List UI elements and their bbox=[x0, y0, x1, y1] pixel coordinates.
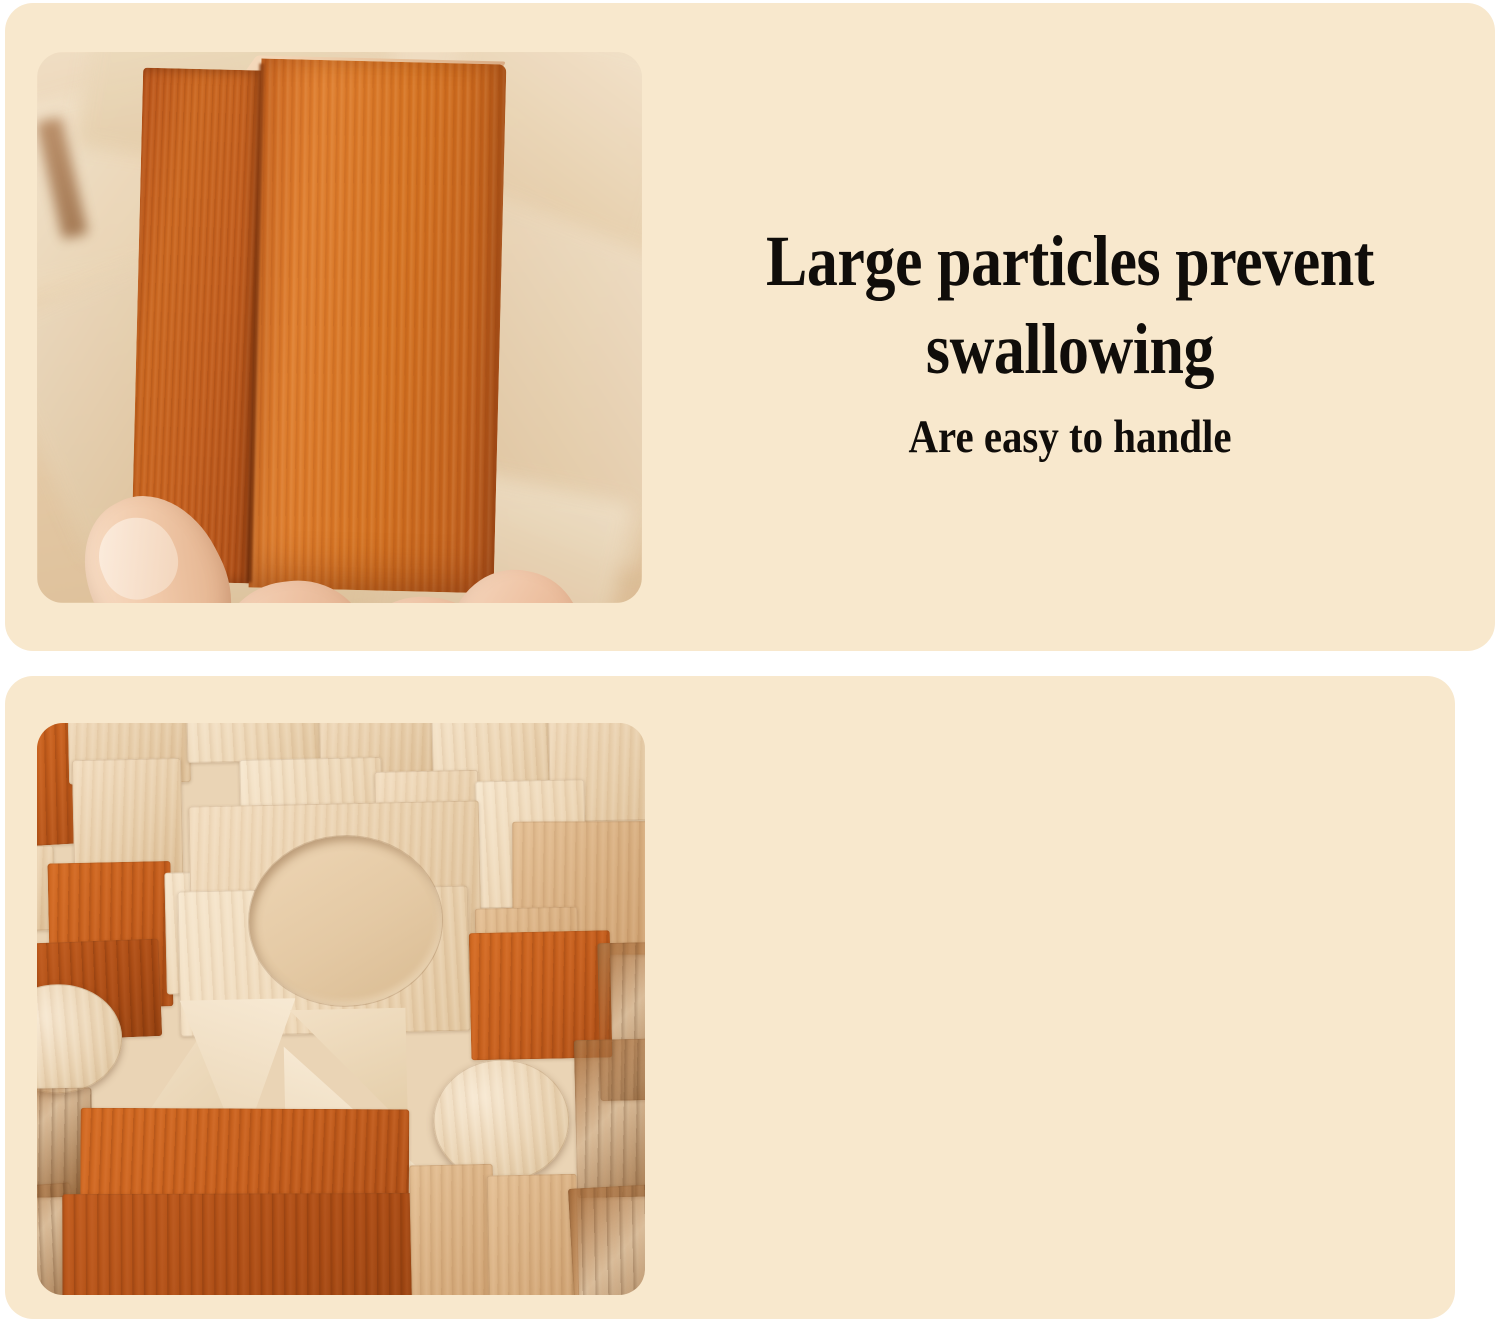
block-light bbox=[186, 723, 323, 764]
block-dark bbox=[63, 1192, 418, 1295]
thumbnail bbox=[87, 505, 190, 603]
block-tan bbox=[486, 1174, 580, 1295]
feature-card-variety-of-shapes: A variety of shapes dark color combinati… bbox=[5, 676, 1455, 1319]
block-front-face bbox=[248, 59, 506, 594]
block-tan bbox=[409, 1164, 496, 1295]
block-brown bbox=[568, 1181, 645, 1295]
feature-card-large-particles: Large particles prevent swallowing Are e… bbox=[5, 3, 1495, 651]
feature-subline-1: Are easy to handle bbox=[709, 408, 1431, 467]
block-brown bbox=[574, 1038, 645, 1198]
feature-text-block-1: Large particles prevent swallowing Are e… bbox=[655, 218, 1485, 467]
block-grid bbox=[37, 723, 645, 1295]
hand-holding-orange-wooden-block-photo bbox=[37, 52, 642, 603]
infographic-page: Large particles prevent swallowing Are e… bbox=[0, 0, 1500, 1331]
feature-headline-1: Large particles prevent swallowing bbox=[713, 218, 1427, 394]
wooden-block-assortment-photo bbox=[37, 723, 645, 1295]
